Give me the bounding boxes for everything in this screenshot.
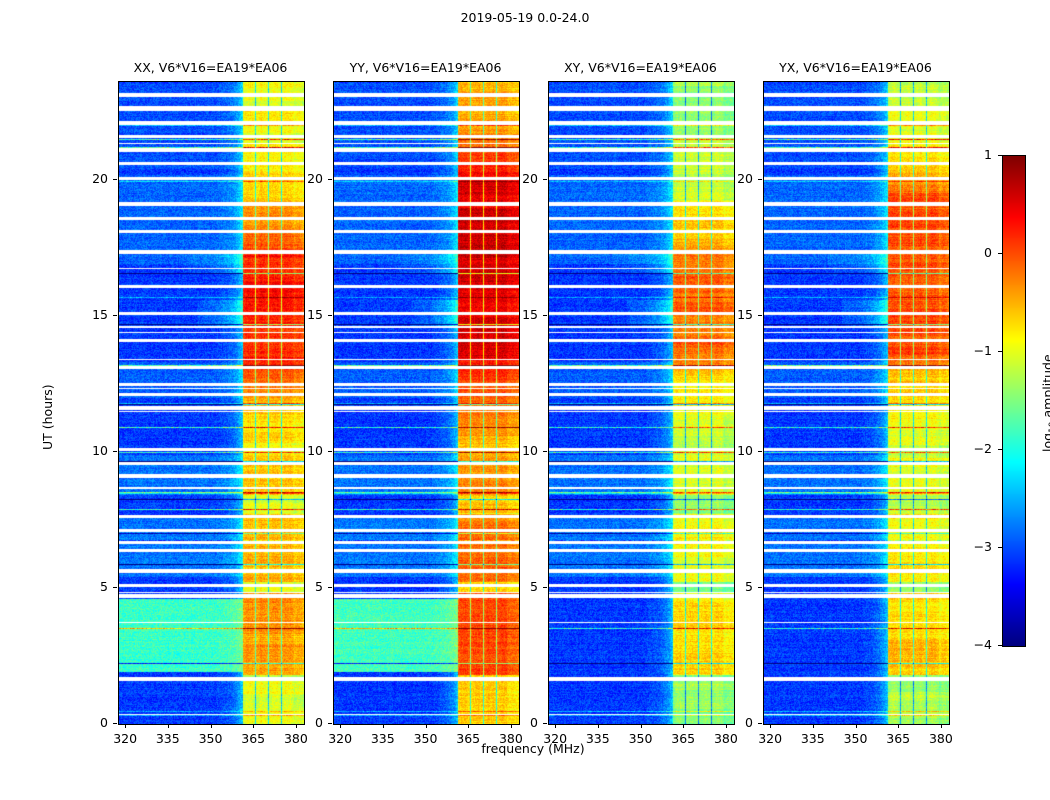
y-tick-label: 0 (273, 715, 323, 730)
x-tick (468, 724, 469, 728)
x-tick (340, 724, 341, 728)
colorbar-tick (998, 253, 1002, 254)
colorbar-tick (998, 449, 1002, 450)
x-tick (211, 724, 212, 728)
y-tick-label: 20 (488, 171, 538, 186)
x-tick (813, 724, 814, 728)
y-tick-label: 20 (703, 171, 753, 186)
x-tick (683, 724, 684, 728)
x-tick (641, 724, 642, 728)
y-tick (758, 451, 762, 452)
colorbar-tick (998, 547, 1002, 548)
y-tick-label: 15 (488, 307, 538, 322)
y-tick-label: 0 (703, 715, 753, 730)
colorbar-axis-label: log10 amplitude (1040, 354, 1050, 452)
spectrogram-yx (763, 81, 950, 725)
y-tick (113, 723, 117, 724)
colorbar-label-prefix: log (1040, 433, 1050, 452)
panel-title-yx: YX, V6*V16=EA19*EA06 (763, 60, 948, 75)
y-tick (113, 587, 117, 588)
y-tick (543, 587, 547, 588)
y-tick-label: 5 (703, 579, 753, 594)
y-tick (758, 315, 762, 316)
y-tick-label: 15 (58, 307, 108, 322)
y-tick (543, 179, 547, 180)
y-tick-label: 0 (58, 715, 108, 730)
colorbar-tick-label: −4 (940, 637, 992, 652)
y-tick (328, 451, 332, 452)
y-tick-label: 20 (58, 171, 108, 186)
x-tick (770, 724, 771, 728)
colorbar-label-suffix: amplitude (1040, 354, 1050, 421)
x-tick (856, 724, 857, 728)
y-tick (328, 723, 332, 724)
colorbar-tick-label: 1 (940, 147, 992, 162)
y-tick-label: 15 (273, 307, 323, 322)
y-tick-label: 10 (58, 443, 108, 458)
x-tick (898, 724, 899, 728)
colorbar-tick-label: −2 (940, 441, 992, 456)
x-axis-label: frequency (MHz) (118, 741, 948, 756)
colorbar-gradient (1002, 155, 1026, 647)
x-tick (253, 724, 254, 728)
y-tick (758, 587, 762, 588)
x-tick (383, 724, 384, 728)
figure-suptitle: 2019-05-19 0.0-24.0 (0, 10, 1050, 25)
y-tick (113, 315, 117, 316)
colorbar-tick-label: 0 (940, 245, 992, 260)
y-tick (328, 179, 332, 180)
panel-title-xx: XX, V6*V16=EA19*EA06 (118, 60, 303, 75)
y-axis-label: UT (hours) (40, 384, 55, 450)
figure-canvas: 2019-05-19 0.0-24.0 XX, V6*V16=EA19*EA06… (0, 0, 1050, 800)
y-tick-label: 5 (488, 579, 538, 594)
y-tick-label: 0 (488, 715, 538, 730)
y-tick (113, 451, 117, 452)
y-tick-label: 10 (488, 443, 538, 458)
y-tick-label: 10 (273, 443, 323, 458)
colorbar-tick (998, 645, 1002, 646)
x-tick (555, 724, 556, 728)
x-tick (168, 724, 169, 728)
x-tick (125, 724, 126, 728)
y-tick (543, 451, 547, 452)
y-tick-label: 5 (58, 579, 108, 594)
y-tick-label: 10 (703, 443, 753, 458)
y-tick (758, 723, 762, 724)
panel-title-xy: XY, V6*V16=EA19*EA06 (548, 60, 733, 75)
y-tick (543, 723, 547, 724)
x-tick (941, 724, 942, 728)
colorbar-tick-label: −1 (940, 343, 992, 358)
panel-title-yy: YY, V6*V16=EA19*EA06 (333, 60, 518, 75)
y-tick (758, 179, 762, 180)
y-tick (113, 179, 117, 180)
colorbar-tick (998, 155, 1002, 156)
y-tick-label: 15 (703, 307, 753, 322)
y-tick (543, 315, 547, 316)
y-tick-label: 5 (273, 579, 323, 594)
colorbar-tick (998, 351, 1002, 352)
x-tick (598, 724, 599, 728)
y-tick (328, 587, 332, 588)
y-tick (328, 315, 332, 316)
y-tick-label: 20 (273, 171, 323, 186)
x-tick (426, 724, 427, 728)
colorbar-tick-label: −3 (940, 539, 992, 554)
